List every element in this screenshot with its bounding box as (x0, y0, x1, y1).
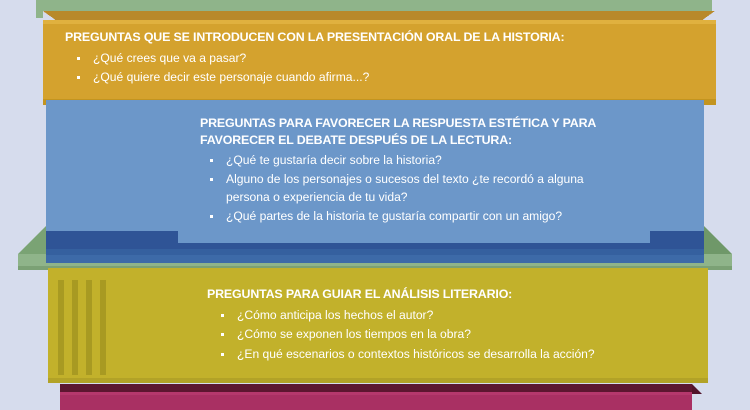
card-blue-bullet-list: ¿Qué te gustaría decir sobre la historia… (178, 151, 620, 225)
list-item: ¿Cómo se exponen los tiempos en la obra? (221, 325, 695, 344)
book-magenta-highlight (60, 392, 692, 395)
list-item: ¿Qué quiere decir este personaje cuando … (77, 68, 705, 87)
list-item: ¿Cómo anticipa los hechos el autor? (221, 306, 695, 325)
card-gold: PREGUNTAS QUE SE INTRODUCEN CON LA PRESE… (53, 24, 705, 99)
list-item: ¿Qué crees que va a pasar? (77, 49, 705, 68)
list-item: Alguno de los personajes o sucesos del t… (210, 170, 620, 206)
card-gold-bullet-list: ¿Qué crees que va a pasar? ¿Qué quiere d… (53, 49, 705, 87)
card-gold-title: PREGUNTAS QUE SE INTRODUCEN CON LA PRESE… (53, 24, 705, 46)
book-blue-bottom-edge (46, 255, 704, 263)
infographic-stage: PREGUNTAS QUE SE INTRODUCEN CON LA PRESE… (0, 0, 750, 410)
list-item: ¿Qué te gustaría decir sobre la historia… (210, 151, 620, 169)
list-item: ¿Qué partes de la historia te gustaría c… (210, 207, 620, 225)
card-blue: PREGUNTAS PARA FAVORECER LA RESPUESTA ES… (178, 108, 650, 243)
book-magenta-right-wedge (692, 384, 702, 394)
card-olive: PREGUNTAS PARA GUIAR EL ANÁLISIS LITERAR… (175, 284, 695, 379)
card-blue-title: PREGUNTAS PARA FAVORECER LA RESPUESTA ES… (178, 108, 650, 148)
book-olive-spine-stripes (58, 280, 108, 375)
list-item: ¿En qué escenarios o contextos histórico… (221, 345, 695, 364)
card-olive-title: PREGUNTAS PARA GUIAR EL ANÁLISIS LITERAR… (175, 284, 695, 303)
card-olive-bullet-list: ¿Cómo anticipa los hechos el autor? ¿Cóm… (175, 306, 695, 364)
